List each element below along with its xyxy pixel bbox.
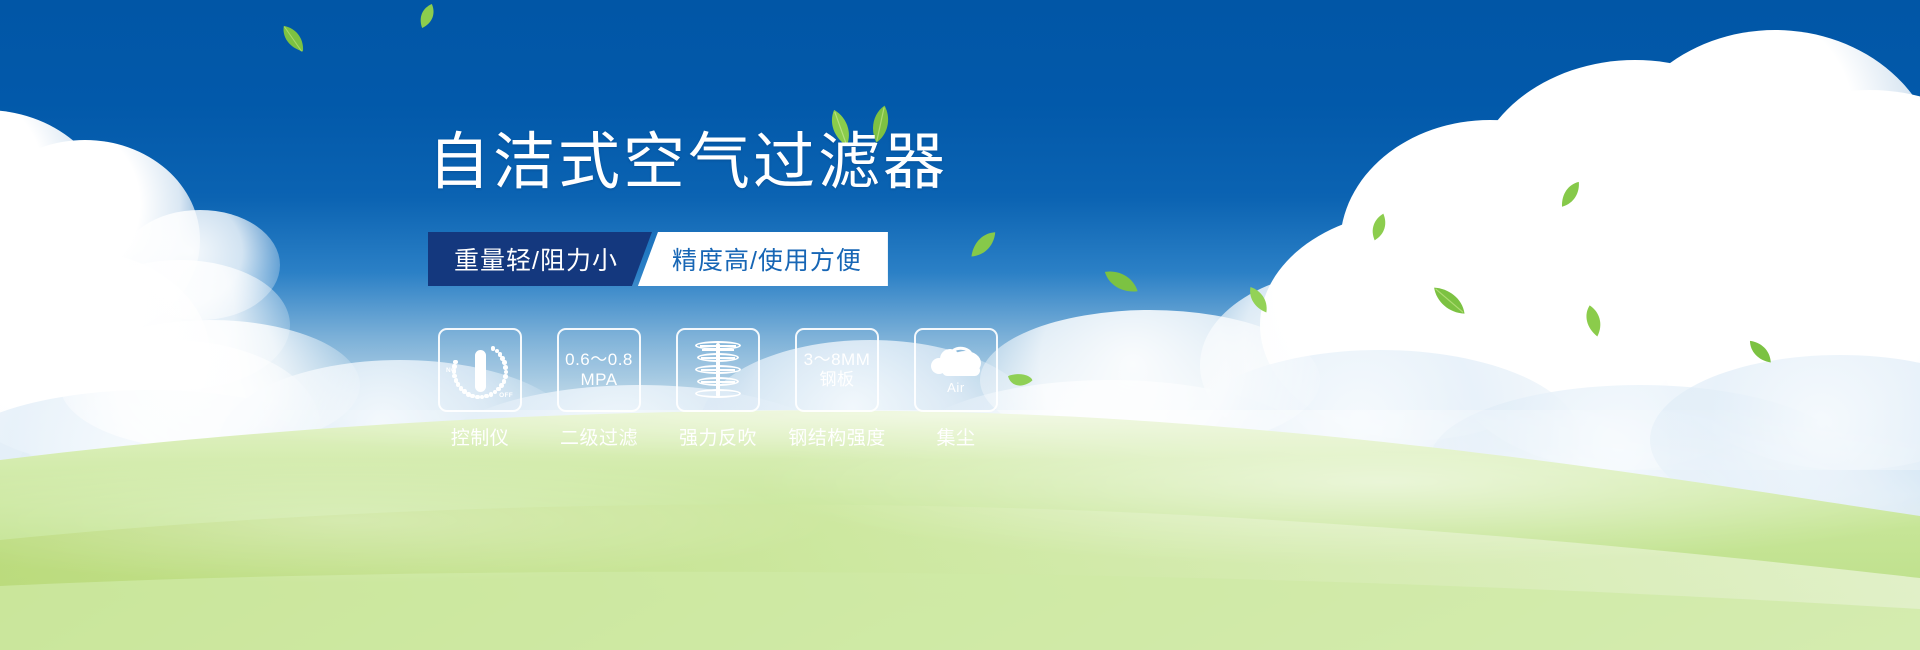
feature-caption: 集尘 [936, 423, 975, 450]
pressure-value-line2: MPA [580, 370, 617, 390]
gauge-tick-dot [502, 379, 507, 384]
steel-value-line2: 钢板 [820, 370, 855, 390]
feature-item-dust-collection[interactable]: Air 集尘 [914, 328, 998, 450]
feature-item-controller[interactable]: NO OFF 控制仪 [438, 328, 522, 450]
gauge-tick-dot [502, 360, 507, 365]
feature-item-backblow[interactable]: 强力反吹 [676, 328, 760, 450]
air-cloud-icon: Air [924, 341, 988, 399]
feature-icon-box [676, 328, 760, 412]
gauge-tick-dot [499, 383, 504, 388]
feature-item-two-stage-filter[interactable]: 0.6～0.8 MPA 二级过滤 [557, 328, 641, 450]
air-cloud-label: Air [947, 380, 965, 395]
feature-icon-box: 0.6～0.8 MPA [557, 328, 641, 412]
page-title: 自洁式空气过滤器 [428, 132, 948, 194]
pressure-value-line1: 0.6～0.8 [565, 350, 633, 370]
gauge-label-off: OFF [499, 392, 513, 399]
gauge-tick-dot [503, 365, 508, 370]
feature-tagline-tabs: 重量轻/阻力小 精度高/使用方便 [428, 232, 888, 286]
feature-caption: 强力反吹 [679, 423, 757, 450]
gauge-tick-dot [500, 356, 505, 361]
product-hero-banner: 自洁式空气过滤器 重量轻/阻力小 精度高/使用方便 NO OFF 控制仪 [0, 0, 1920, 650]
feature-caption: 钢结构强度 [788, 423, 886, 450]
gauge-tick-dot [503, 374, 508, 379]
feature-icon-box: Air [914, 328, 998, 412]
gauge-tick-dot [491, 346, 496, 351]
tagline-tab-2[interactable]: 精度高/使用方便 [638, 232, 888, 286]
tagline-tab-1[interactable]: 重量轻/阻力小 [428, 232, 652, 286]
dial-gauge-icon: NO OFF [447, 337, 513, 403]
gauge-tick-dot [452, 369, 457, 374]
gauge-tick-dot [475, 395, 480, 400]
feature-caption: 二级过滤 [560, 423, 638, 450]
gauge-tick-dot [504, 370, 509, 375]
feature-caption: 控制仪 [451, 423, 510, 450]
banner-content: 自洁式空气过滤器 重量轻/阻力小 精度高/使用方便 NO OFF 控制仪 [0, 0, 1920, 650]
filter-coil-icon [689, 339, 747, 401]
feature-icon-box: 3～8MM 钢板 [795, 328, 879, 412]
gauge-needle [475, 350, 486, 392]
feature-item-steel-strength[interactable]: 3～8MM 钢板 钢结构强度 [795, 328, 879, 450]
steel-value-line1: 3～8MM [804, 350, 871, 370]
feature-icon-list: NO OFF 控制仪 0.6～0.8 MPA 二级过滤 [438, 328, 998, 450]
feature-icon-box: NO OFF [438, 328, 522, 412]
